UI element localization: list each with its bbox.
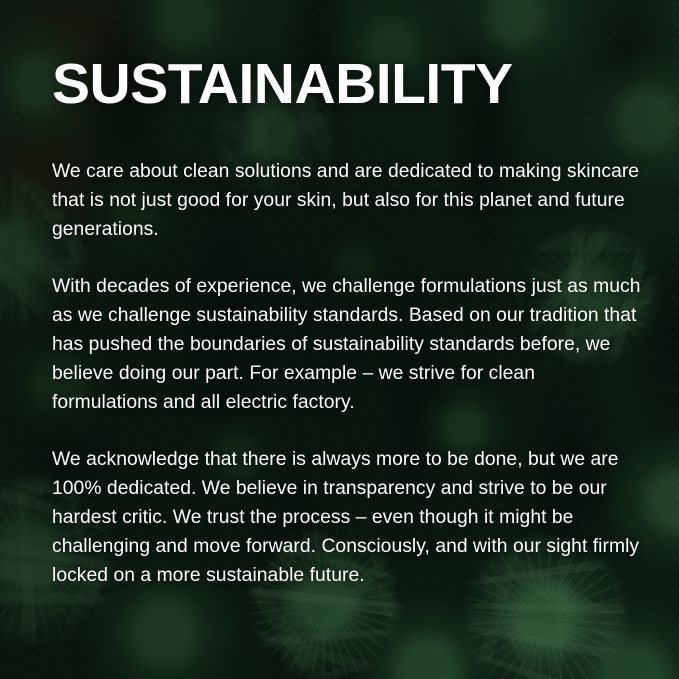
paragraph-3: We acknowledge that there is always more… [52, 445, 644, 591]
paragraph-1: We care about clean solutions and are de… [52, 157, 644, 245]
body-copy: We care about clean solutions and are de… [52, 157, 644, 591]
page-title: SUSTAINABILITY [52, 54, 513, 114]
paragraph-2: With decades of experience, we challenge… [52, 272, 644, 418]
sustainability-banner: SUSTAINABILITY We care about clean solut… [0, 0, 679, 679]
content-block: SUSTAINABILITY We care about clean solut… [52, 0, 644, 679]
